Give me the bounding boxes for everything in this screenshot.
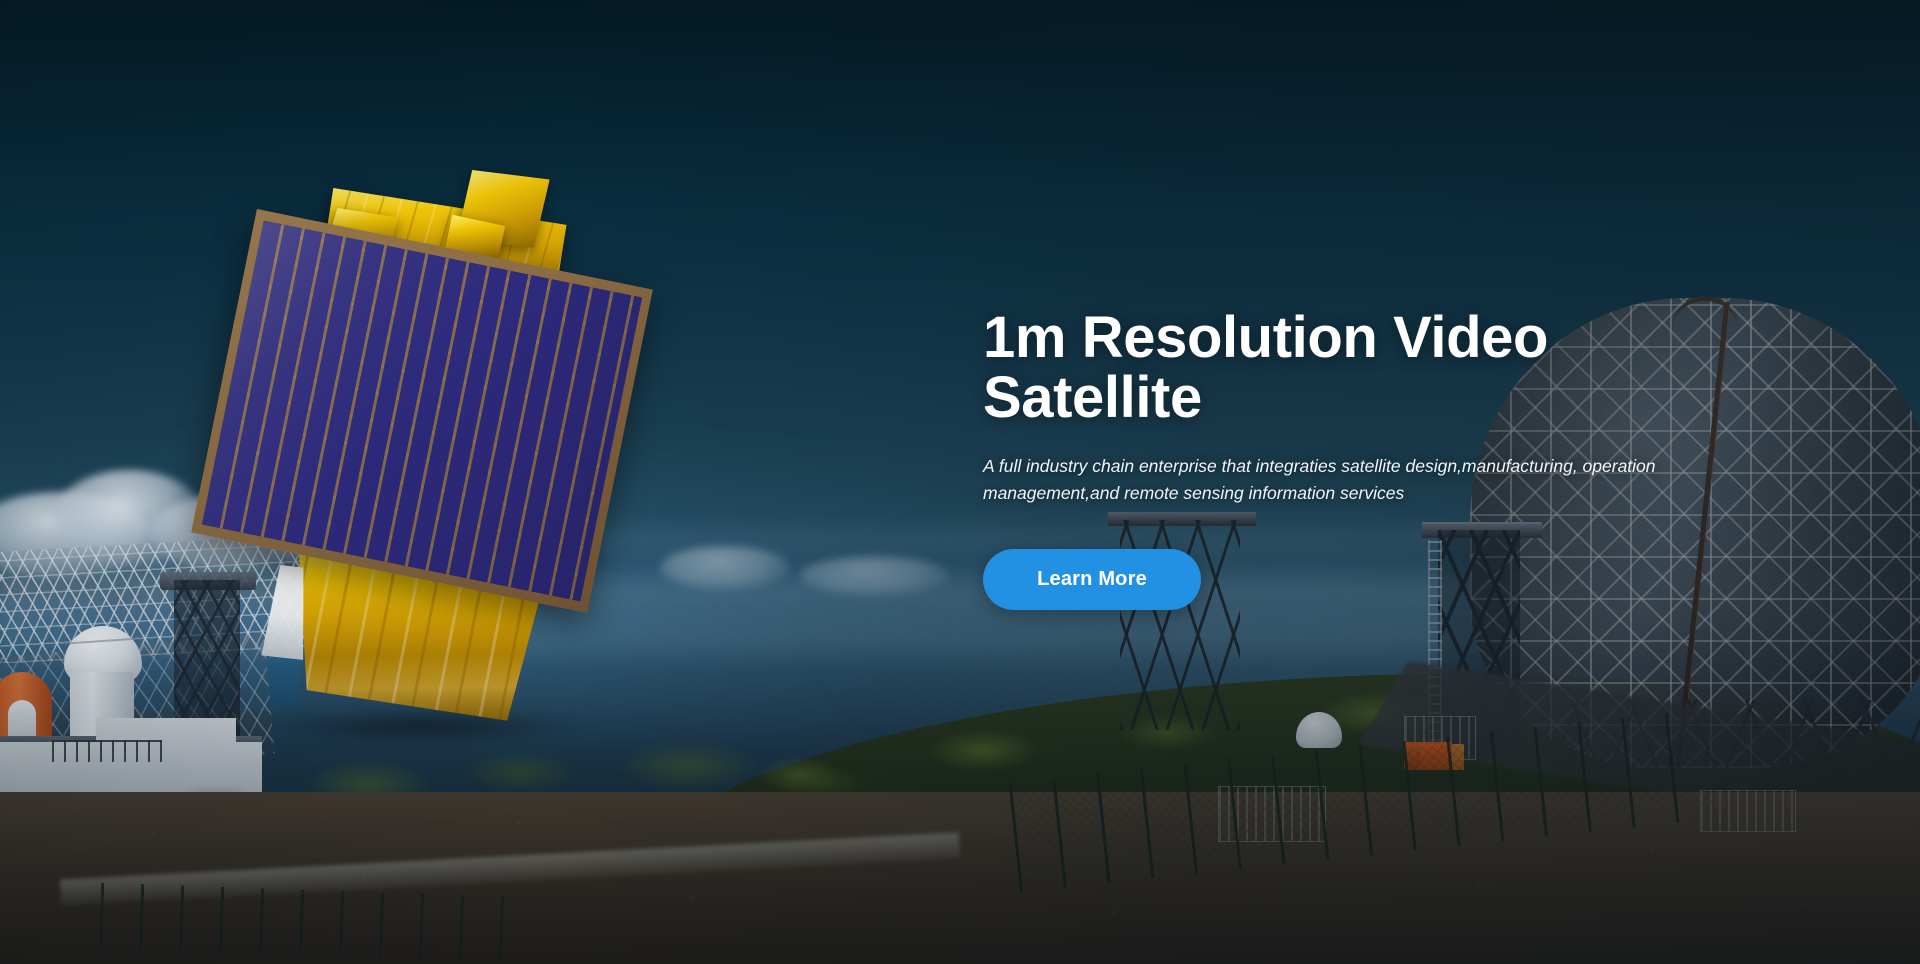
hero-banner: 1m Resolution Video Satellite A full ind… — [0, 0, 1920, 964]
learn-more-button[interactable]: Learn More — [983, 549, 1201, 610]
satellite-shadow — [256, 708, 586, 744]
satellite — [196, 168, 696, 688]
hero-subtitle: A full industry chain enterprise that in… — [983, 453, 1743, 507]
hero-content: 1m Resolution Video Satellite A full ind… — [983, 308, 1773, 610]
solar-panel-gloss — [202, 221, 642, 602]
solar-panel-array — [191, 209, 653, 613]
hero-title: 1m Resolution Video Satellite — [983, 308, 1643, 429]
